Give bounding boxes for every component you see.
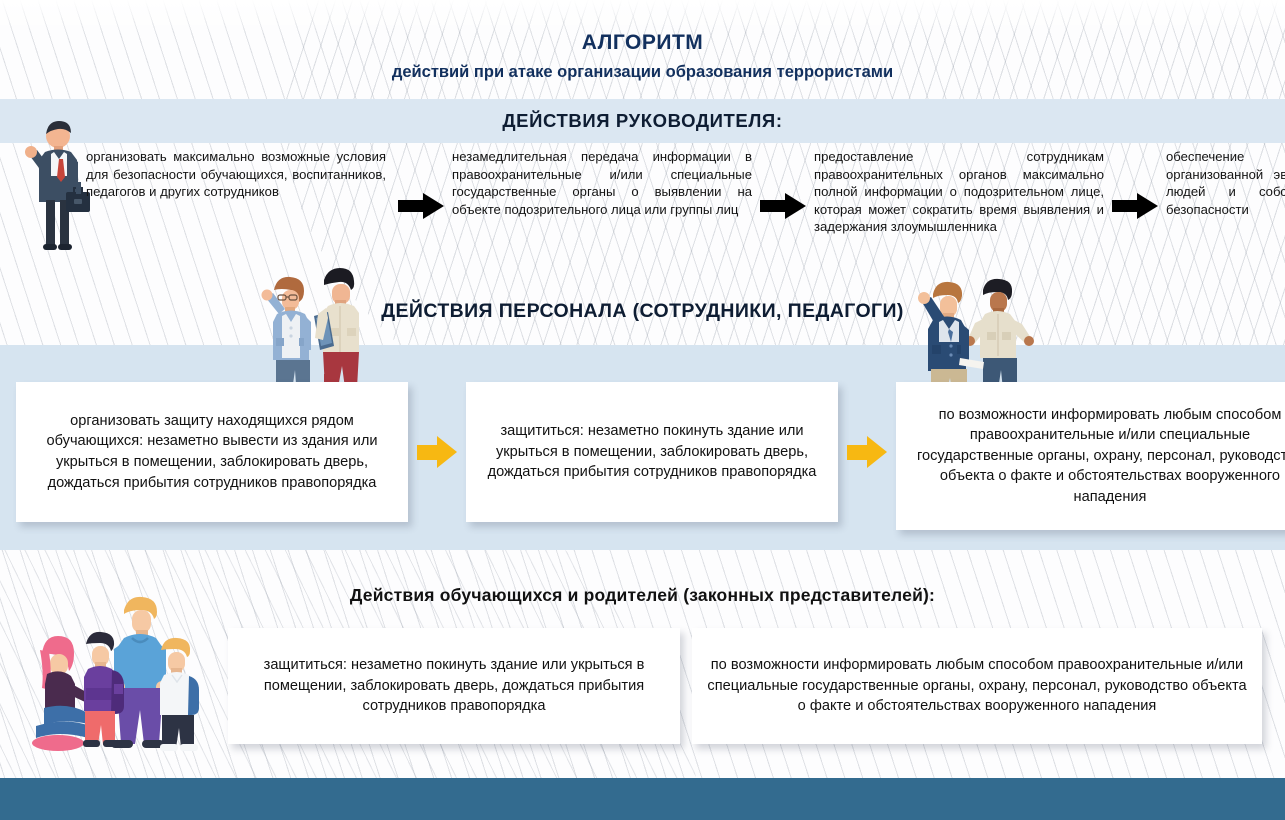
background-fade-top [0,0,1285,34]
black-arrow-right-icon [1112,193,1158,219]
leader-steps-row: организовать максимально возможные услов… [0,148,1285,264]
staff-steps-row: организовать защиту находящихся рядом об… [0,382,1285,530]
yellow-arrow-right-icon [847,436,887,468]
yellow-arrow-right-icon [417,436,457,468]
leader-section-heading: ДЕЙСТВИЯ РУКОВОДИТЕЛЯ: [0,99,1285,143]
leader-step-1: организовать максимально возможные услов… [86,148,390,201]
two-men-waving-illustration [905,272,1045,395]
students-step-2-text: по возможности информировать любым спосо… [706,655,1248,717]
students-step-card-1: защититься: незаметно покинуть здание ил… [228,628,680,744]
leader-illustration-slot [0,148,86,264]
staff-step-card-1: организовать защиту находящихся рядом об… [16,382,408,522]
page-title-block: АЛГОРИТМ действий при атаке организации … [0,30,1285,83]
leader-connector-2 [752,148,814,264]
black-arrow-right-icon [398,193,444,219]
leader-connector-1 [390,148,452,264]
two-teachers-illustration [252,262,378,397]
staff-connector-2 [838,382,896,522]
staff-section-heading: ДЕЙСТВИЯ ПЕРСОНАЛА (СОТРУДНИКИ, ПЕДАГОГИ… [0,300,1285,323]
leader-step-4: обеспечение организованной эвакуации люд… [1166,148,1285,218]
leader-step-2: незамедлительная передача информации в п… [452,148,752,218]
infographic-page: АЛГОРИТМ действий при атаке организации … [0,0,1285,820]
students-step-1-text: защититься: незаметно покинуть здание ил… [242,655,666,717]
students-steps-row: защититься: незаметно покинуть здание ил… [0,628,1285,744]
staff-step-card-2: защититься: незаметно покинуть здание ил… [466,382,838,522]
leader-step-3: предоставление сотрудникам правоохраните… [814,148,1104,236]
staff-connector-1 [408,382,466,522]
page-title: АЛГОРИТМ [0,30,1285,56]
page-subtitle: действий при атаке организации образован… [0,62,1285,83]
staff-step-card-3: по возможности информировать любым спосо… [896,382,1285,530]
students-step-card-2: по возможности информировать любым спосо… [692,628,1262,744]
staff-step-1-text: организовать защиту находящихся рядом об… [30,411,394,493]
staff-step-2-text: защититься: незаметно покинуть здание ил… [480,421,824,483]
leader-connector-3 [1104,148,1166,264]
staff-step-3-text: по возможности информировать любым спосо… [910,405,1285,508]
students-section-heading: Действия обучающихся и родителей (законн… [0,585,1285,606]
bottom-accent-bar [0,778,1285,820]
black-arrow-right-icon [760,193,806,219]
